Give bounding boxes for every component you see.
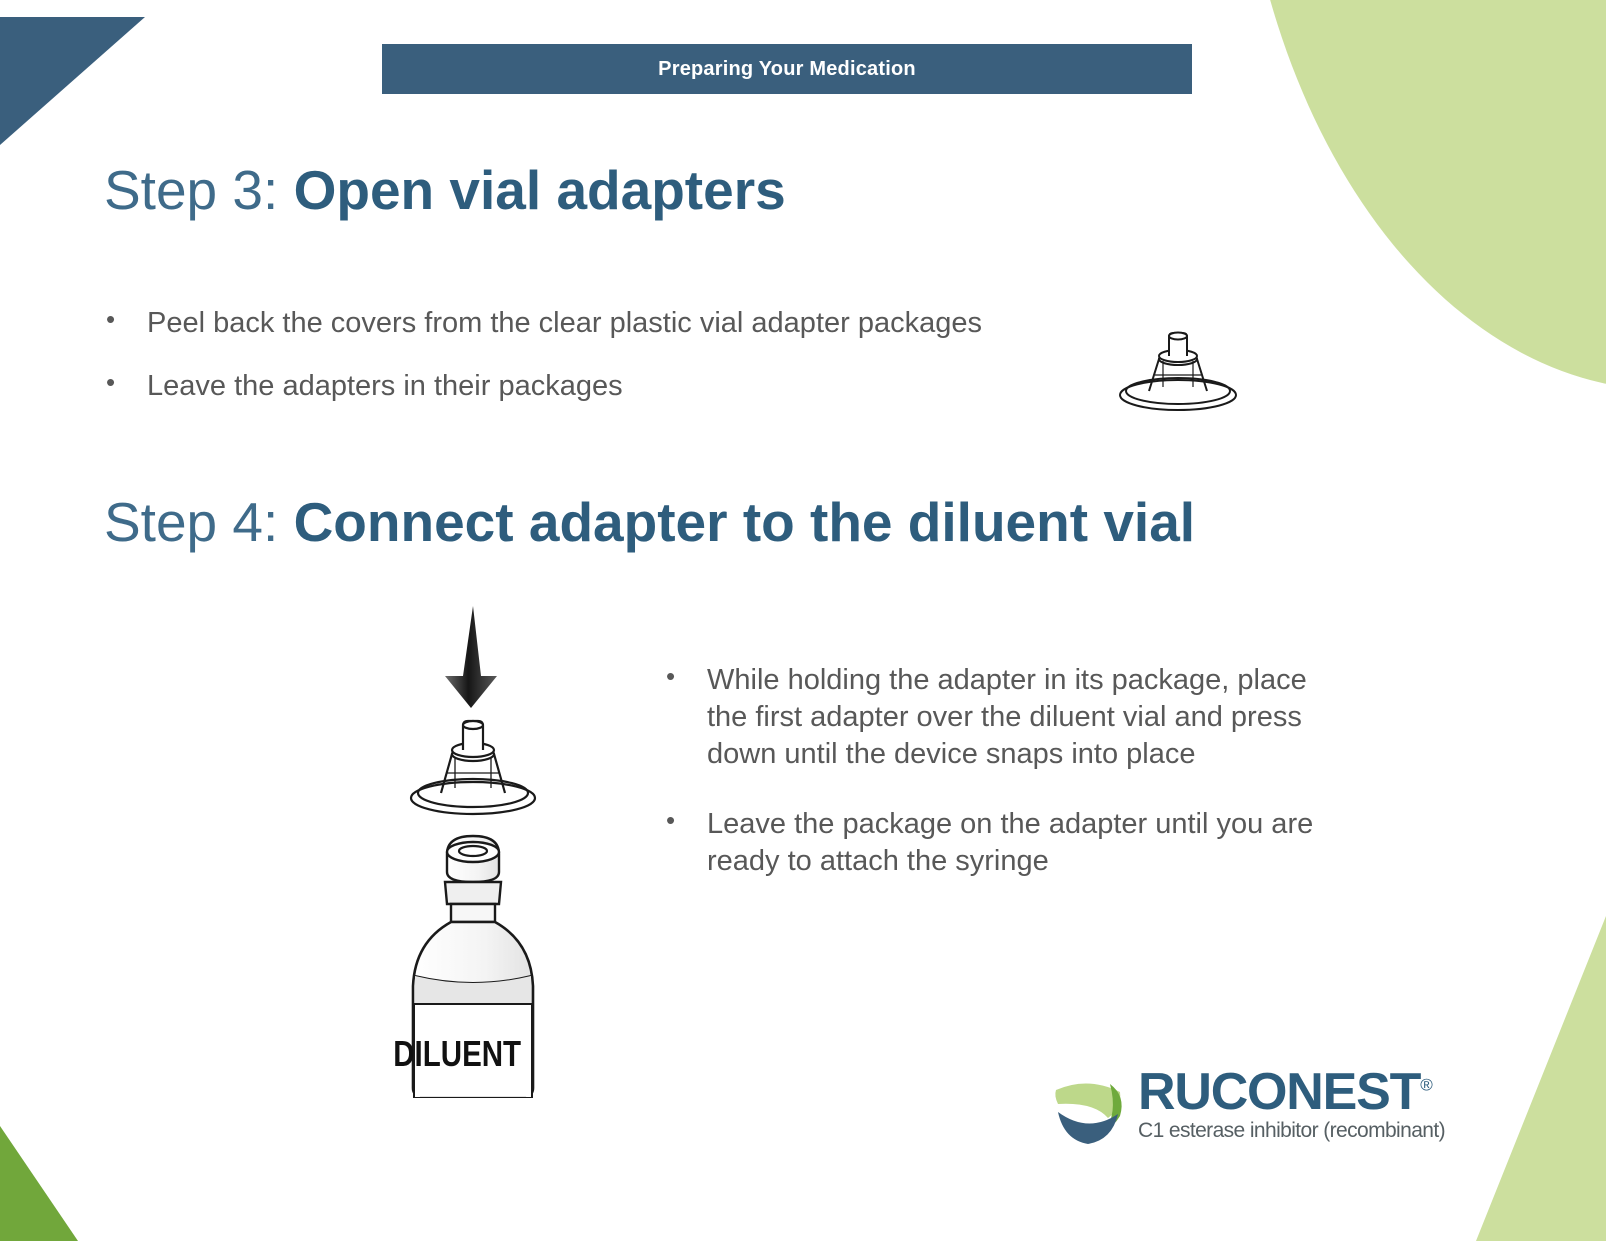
step-4-title: Connect adapter to the diluent vial — [294, 491, 1195, 553]
list-item: Leave the adapters in their packages — [100, 368, 1100, 405]
logo-tagline: C1 esterase inhibitor (recombinant) — [1138, 1119, 1445, 1143]
list-item: Leave the package on the adapter until y… — [660, 806, 1340, 880]
header-banner: Preparing Your Medication — [382, 44, 1192, 94]
step-3-bullet-list: Peel back the covers from the clear plas… — [100, 305, 1100, 405]
vial-adapter-in-package-icon — [1103, 325, 1253, 420]
down-arrow-icon — [445, 606, 497, 708]
vial-label-text: DILUENT — [393, 1033, 521, 1073]
leaf-bowl-logo-icon — [1048, 1074, 1128, 1153]
top-left-blue-triangle-decoration — [0, 17, 145, 145]
list-item: Peel back the covers from the clear plas… — [100, 305, 1100, 342]
bottom-right-green-wedge-decoration — [1476, 916, 1606, 1241]
top-right-green-curve-decoration — [1236, 0, 1606, 390]
header-title: Preparing Your Medication — [658, 58, 916, 81]
step-4-heading: Step 4: Connect adapter to the diluent v… — [104, 495, 1195, 550]
bottom-left-green-triangle-decoration — [0, 1126, 78, 1241]
list-item: While holding the adapter in its package… — [660, 662, 1340, 772]
slide: Preparing Your Medication Step 3: Open v… — [0, 0, 1606, 1241]
logo-wordmark: RUCONEST® — [1138, 1068, 1445, 1118]
ruconest-logo: RUCONEST® C1 esterase inhibitor (recombi… — [1048, 1068, 1445, 1153]
logo-wordmark-text: RUCONEST — [1138, 1063, 1420, 1121]
registered-trademark-icon: ® — [1420, 1076, 1431, 1095]
step-4-illustration: DILUENT — [385, 598, 605, 1103]
step-3-heading: Step 3: Open vial adapters — [104, 163, 786, 218]
step-4-label: Step 4: — [104, 491, 294, 553]
step-3-label: Step 3: — [104, 159, 294, 221]
step-4-bullet-list: While holding the adapter in its package… — [660, 662, 1340, 880]
step-3-title: Open vial adapters — [294, 159, 786, 221]
